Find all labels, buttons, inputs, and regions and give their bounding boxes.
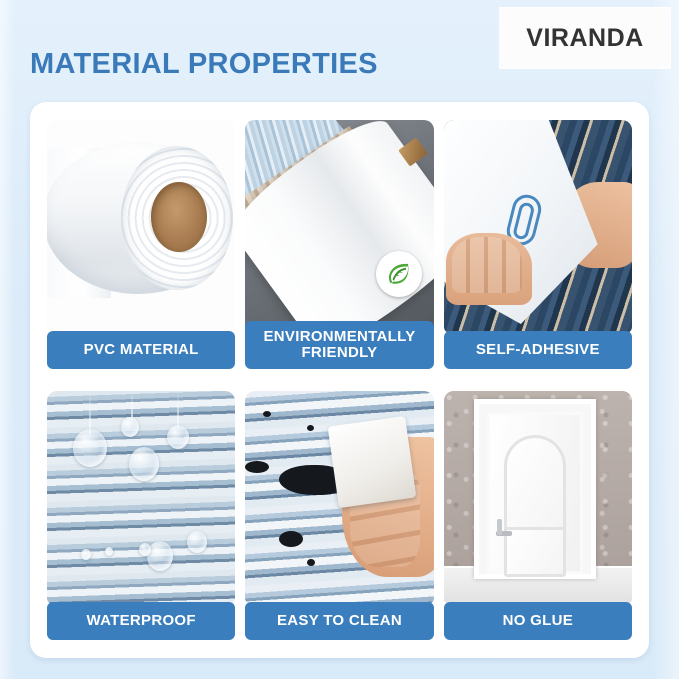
feature-image-environmentally-friendly <box>245 120 433 333</box>
feature-image-self-adhesive <box>444 120 632 333</box>
brand-logo-text: VIRANDA <box>526 24 643 53</box>
water-drop <box>121 417 139 437</box>
adhesive-hand-left <box>446 233 532 305</box>
brand-logo: VIRANDA <box>500 8 670 68</box>
pvc-roll-core <box>151 182 207 252</box>
infographic-page: VIRANDA MATERIAL PROPERTIES PVC MATERIAL <box>0 0 679 679</box>
feature-label-waterproof: WATERPROOF <box>47 602 235 640</box>
door-panel-bottom <box>504 527 566 577</box>
feature-image-waterproof <box>47 391 235 604</box>
door-leaf <box>487 412 583 574</box>
eco-badge <box>376 251 422 297</box>
water-drop <box>105 547 113 556</box>
feature-tile-waterproof[interactable]: WATERPROOF <box>47 391 235 640</box>
feature-tile-self-adhesive[interactable]: SELF-ADHESIVE <box>444 120 632 369</box>
water-drop <box>187 531 207 553</box>
feature-tile-pvc-material[interactable]: PVC MATERIAL <box>47 120 235 369</box>
feature-label-pvc-material: PVC MATERIAL <box>47 331 235 369</box>
door-panel-top <box>504 435 566 539</box>
leaf-icon <box>384 259 414 289</box>
feature-image-no-glue <box>444 391 632 604</box>
door-lock-plate <box>497 519 502 535</box>
feature-image-easy-to-clean <box>245 391 433 604</box>
feature-tile-easy-to-clean[interactable]: EASY TO CLEAN <box>245 391 433 640</box>
page-title: MATERIAL PROPERTIES <box>30 48 378 81</box>
feature-label-easy-to-clean: EASY TO CLEAN <box>245 602 433 640</box>
feature-label-no-glue: NO GLUE <box>444 602 632 640</box>
water-drop <box>81 549 91 560</box>
door-frame <box>474 399 596 579</box>
water-drop <box>129 447 159 481</box>
cleaning-cloth <box>328 416 417 508</box>
feature-image-pvc-material <box>47 120 235 333</box>
feature-label-self-adhesive: SELF-ADHESIVE <box>444 331 632 369</box>
water-drop <box>73 429 107 467</box>
feature-label-environmentally-friendly: ENVIRONMENTALLYFRIENDLY <box>245 321 433 369</box>
feature-grid: PVC MATERIAL <box>47 120 632 640</box>
feature-tile-no-glue[interactable]: NO GLUE <box>444 391 632 640</box>
water-drop <box>139 543 151 556</box>
water-drop <box>147 541 173 571</box>
water-drop <box>167 425 189 449</box>
feature-tile-environmentally-friendly[interactable]: ENVIRONMENTALLYFRIENDLY <box>245 120 433 369</box>
feature-card: PVC MATERIAL <box>30 102 649 658</box>
